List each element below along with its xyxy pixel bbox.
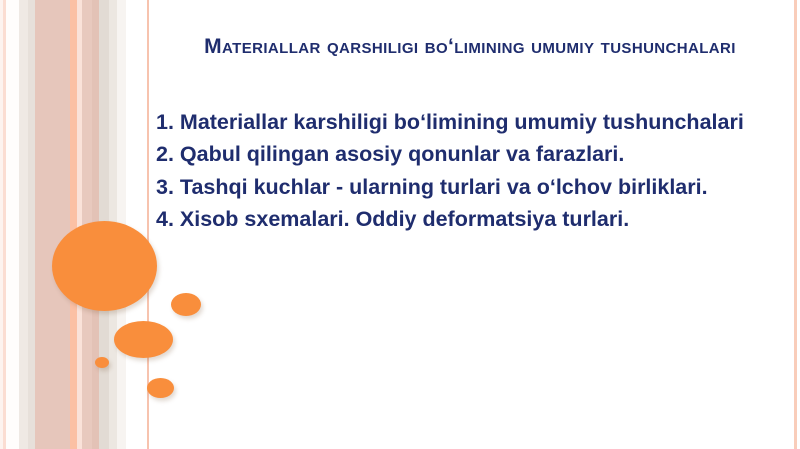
body-item-1-text: 1. Materiallar karshiligi bo‘limining um… xyxy=(156,108,756,137)
body-item-4-text: 4. Xisob sxemalari. Oddiy deformatsiya t… xyxy=(156,207,629,231)
slide-body-list: 1. Materiallar karshiligi bo‘limining um… xyxy=(156,108,756,238)
stripe-beige-1 xyxy=(19,0,28,449)
body-item-2-text: 2. Qabul qilingan asosiy qonunlar va far… xyxy=(156,142,624,166)
body-item-3-text: 3. Tashqi kuchlar - ularning turlari va … xyxy=(156,173,756,202)
stripe-white-3 xyxy=(126,0,147,449)
presentation-slide: Materiallar qarshiligi bo‘limining umumi… xyxy=(0,0,800,449)
body-item-4: 4. Xisob sxemalari. Oddiy deformatsiya t… xyxy=(156,205,756,234)
body-item-2: 2. Qabul qilingan asosiy qonunlar va far… xyxy=(156,140,756,169)
stripe-white-1 xyxy=(6,0,19,449)
body-item-1: 1. Materiallar karshiligi bo‘limining um… xyxy=(156,108,756,137)
blob-small-bottom xyxy=(147,378,174,398)
stripe-pink-wide xyxy=(35,0,70,449)
blob-large xyxy=(52,221,157,311)
slide-title: Materiallar qarshiligi bo‘limining umumi… xyxy=(160,33,780,62)
body-item-3: 3. Tashqi kuchlar - ularning turlari va … xyxy=(156,173,756,202)
blob-medium xyxy=(114,321,173,358)
stripe-peach-mid xyxy=(70,0,77,449)
stripe-line-far-right xyxy=(794,0,797,449)
blob-tiny xyxy=(95,357,109,368)
blob-small-right xyxy=(171,293,201,316)
stripe-beige-2 xyxy=(28,0,35,449)
